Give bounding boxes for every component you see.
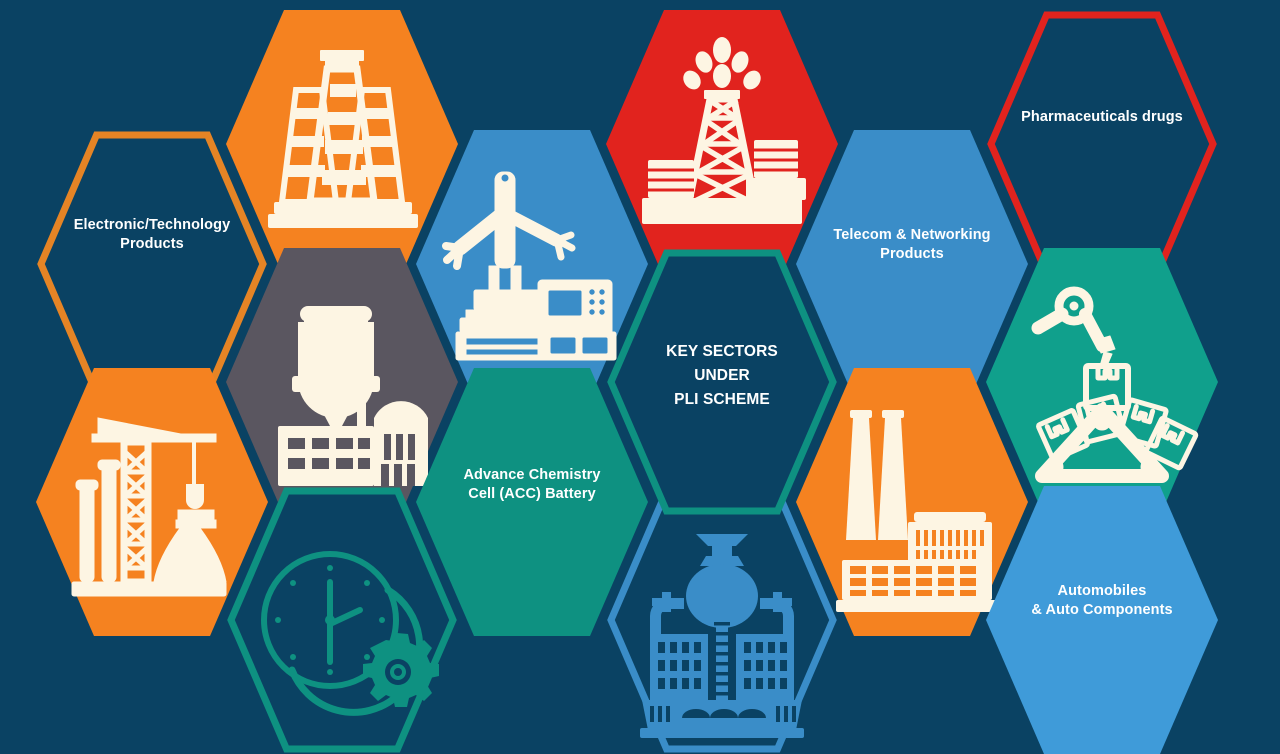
clock-gear-icon (226, 486, 458, 754)
hex-process-industry-plant[interactable] (606, 486, 838, 754)
hex-automobiles-auto-components[interactable]: Automobiles& Auto Components (986, 486, 1218, 754)
hex-shape (606, 248, 838, 516)
hex-pharmaceuticals-drugs[interactable]: Pharmaceuticals drugs (986, 10, 1218, 278)
infographic-canvas: Electronic/TechnologyProducts (0, 0, 1280, 720)
process-plant-icon (606, 486, 838, 754)
hex-key-sectors-center[interactable]: KEY SECTORSUNDERPLI SCHEME (606, 248, 838, 516)
hex-clock-gear-productivity[interactable] (226, 486, 458, 754)
hex-shape (986, 10, 1218, 278)
hex-shape (986, 486, 1218, 754)
